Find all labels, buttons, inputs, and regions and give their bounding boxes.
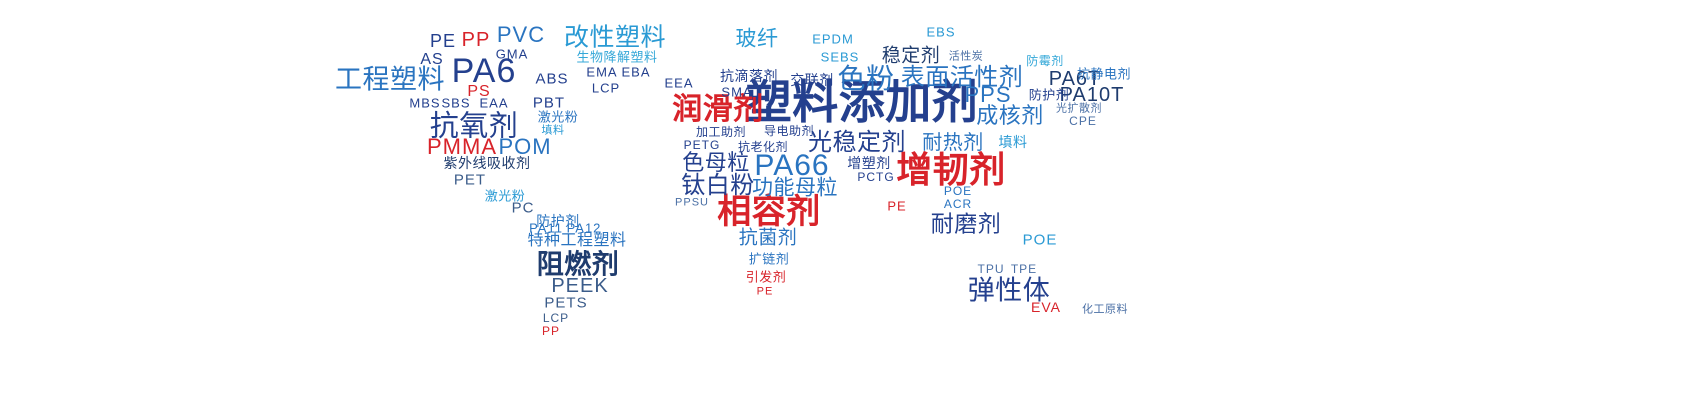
wordcloud-term[interactable]: 功能母粒 — [752, 178, 838, 199]
wordcloud-term[interactable]: 光稳定剂 — [808, 131, 906, 155]
wordcloud-term[interactable]: PE — [757, 287, 774, 298]
wordcloud-term[interactable]: 防霉剂 — [1026, 55, 1064, 67]
wordcloud-term[interactable]: TPE — [1011, 263, 1037, 275]
wordcloud-term[interactable]: PE — [430, 32, 456, 50]
wordcloud-term[interactable]: 抗菌剂 — [739, 229, 798, 248]
wordcloud-term[interactable]: 生物降解塑料 — [576, 51, 657, 64]
wordcloud-term[interactable]: PP — [542, 325, 560, 337]
wordcloud-term[interactable]: 填料 — [542, 126, 565, 137]
wordcloud-term[interactable]: 抗滴落剂 — [720, 69, 778, 83]
wordcloud-term[interactable]: 稳定剂 — [882, 47, 941, 66]
wordcloud-term[interactable]: 色粉 — [837, 65, 894, 93]
wordcloud-term[interactable]: PET — [454, 173, 486, 188]
wordcloud-term[interactable]: 填料 — [999, 135, 1028, 149]
wordcloud-term[interactable]: SEBS — [821, 51, 860, 64]
wordcloud-term[interactable]: ABS — [535, 72, 568, 87]
wordcloud-term[interactable]: GMA — [496, 48, 529, 61]
wordcloud-term[interactable]: 化工原料 — [1082, 305, 1128, 316]
wordcloud-term[interactable]: 增塑剂 — [847, 156, 891, 170]
wordcloud-term[interactable]: PC — [512, 201, 535, 216]
wordcloud-term[interactable]: MBS — [409, 97, 440, 110]
wordcloud-term[interactable]: LCP — [592, 82, 620, 95]
wordcloud-term[interactable]: 交联剂 — [790, 73, 834, 87]
wordcloud-term[interactable]: 润滑剂 — [672, 95, 764, 125]
wordcloud-term[interactable]: 钛白粉 — [681, 174, 755, 198]
wordcloud-term[interactable]: PCTG — [857, 171, 894, 183]
wordcloud-term[interactable]: PVC — [497, 24, 545, 46]
wordcloud-term[interactable]: EEA — [664, 77, 693, 90]
wordcloud-term[interactable]: 耐热剂 — [922, 133, 984, 153]
wordcloud-term[interactable]: POE — [1023, 233, 1058, 248]
wordcloud-term[interactable]: SBS — [441, 97, 470, 110]
wordcloud-term[interactable]: 特种工程塑料 — [527, 233, 626, 249]
wordcloud-term[interactable]: ACR — [944, 198, 972, 210]
wordcloud-term[interactable]: SMA — [721, 86, 752, 99]
wordcloud-term[interactable]: 防护剂 — [1029, 89, 1070, 102]
wordcloud-term[interactable]: 增韧剂 — [896, 152, 1006, 188]
wordcloud-canvas: 塑料添加剂增韧剂相容剂润滑剂阻燃剂工程塑料抗氧剂PA6色粉表面活性剂PA66光稳… — [0, 0, 1707, 400]
wordcloud-term[interactable]: PPSU — [675, 198, 709, 209]
wordcloud-term[interactable]: EMA — [586, 66, 617, 79]
wordcloud-term[interactable]: 色母粒 — [682, 152, 750, 174]
wordcloud-term[interactable]: PE — [887, 200, 906, 213]
wordcloud-term[interactable]: PETG — [684, 139, 721, 151]
wordcloud-term[interactable]: POE — [944, 185, 972, 197]
wordcloud-term[interactable]: PEEK — [551, 276, 608, 296]
wordcloud-term[interactable]: 引发剂 — [746, 271, 787, 284]
wordcloud-term[interactable]: PETS — [544, 296, 587, 311]
wordcloud-term[interactable]: PP — [462, 30, 491, 50]
wordcloud-term[interactable]: PPS — [964, 84, 1011, 106]
wordcloud-term[interactable]: EBA — [621, 66, 650, 79]
wordcloud-term[interactable]: AS — [420, 52, 443, 68]
wordcloud-term[interactable]: 改性塑料 — [564, 26, 666, 51]
wordcloud-term[interactable]: 激光粉 — [538, 111, 579, 124]
wordcloud-term[interactable]: CPE — [1069, 115, 1097, 127]
wordcloud-term[interactable]: 玻纤 — [736, 29, 779, 50]
wordcloud-term[interactable]: 抗静电剂 — [1077, 68, 1131, 81]
wordcloud-term[interactable]: EBS — [926, 26, 955, 39]
wordcloud-term[interactable]: 光扩散剂 — [1056, 104, 1102, 115]
wordcloud-term[interactable]: 扩链剂 — [749, 253, 790, 266]
wordcloud-term[interactable]: PBT — [533, 96, 565, 111]
wordcloud-term[interactable]: 工程塑料 — [335, 67, 445, 94]
wordcloud-term[interactable]: 活性炭 — [949, 52, 984, 63]
wordcloud-term[interactable]: EVA — [1031, 300, 1061, 314]
wordcloud-term[interactable]: 相容剂 — [717, 195, 821, 229]
wordcloud-term[interactable]: EPDM — [812, 33, 854, 46]
wordcloud-term[interactable]: 导电助剂 — [764, 125, 814, 137]
wordcloud-term[interactable]: 加工助剂 — [696, 126, 746, 138]
wordcloud-term[interactable]: LCP — [543, 312, 569, 324]
wordcloud-term[interactable]: 成核剂 — [976, 105, 1044, 127]
wordcloud-term[interactable]: 抗老化剂 — [738, 141, 788, 153]
wordcloud-term[interactable]: 紫外线吸收剂 — [444, 156, 531, 170]
wordcloud-term[interactable]: 耐磨剂 — [931, 213, 1002, 236]
wordcloud-term[interactable]: EAA — [479, 97, 508, 110]
wordcloud-term[interactable]: TPU — [978, 263, 1005, 275]
